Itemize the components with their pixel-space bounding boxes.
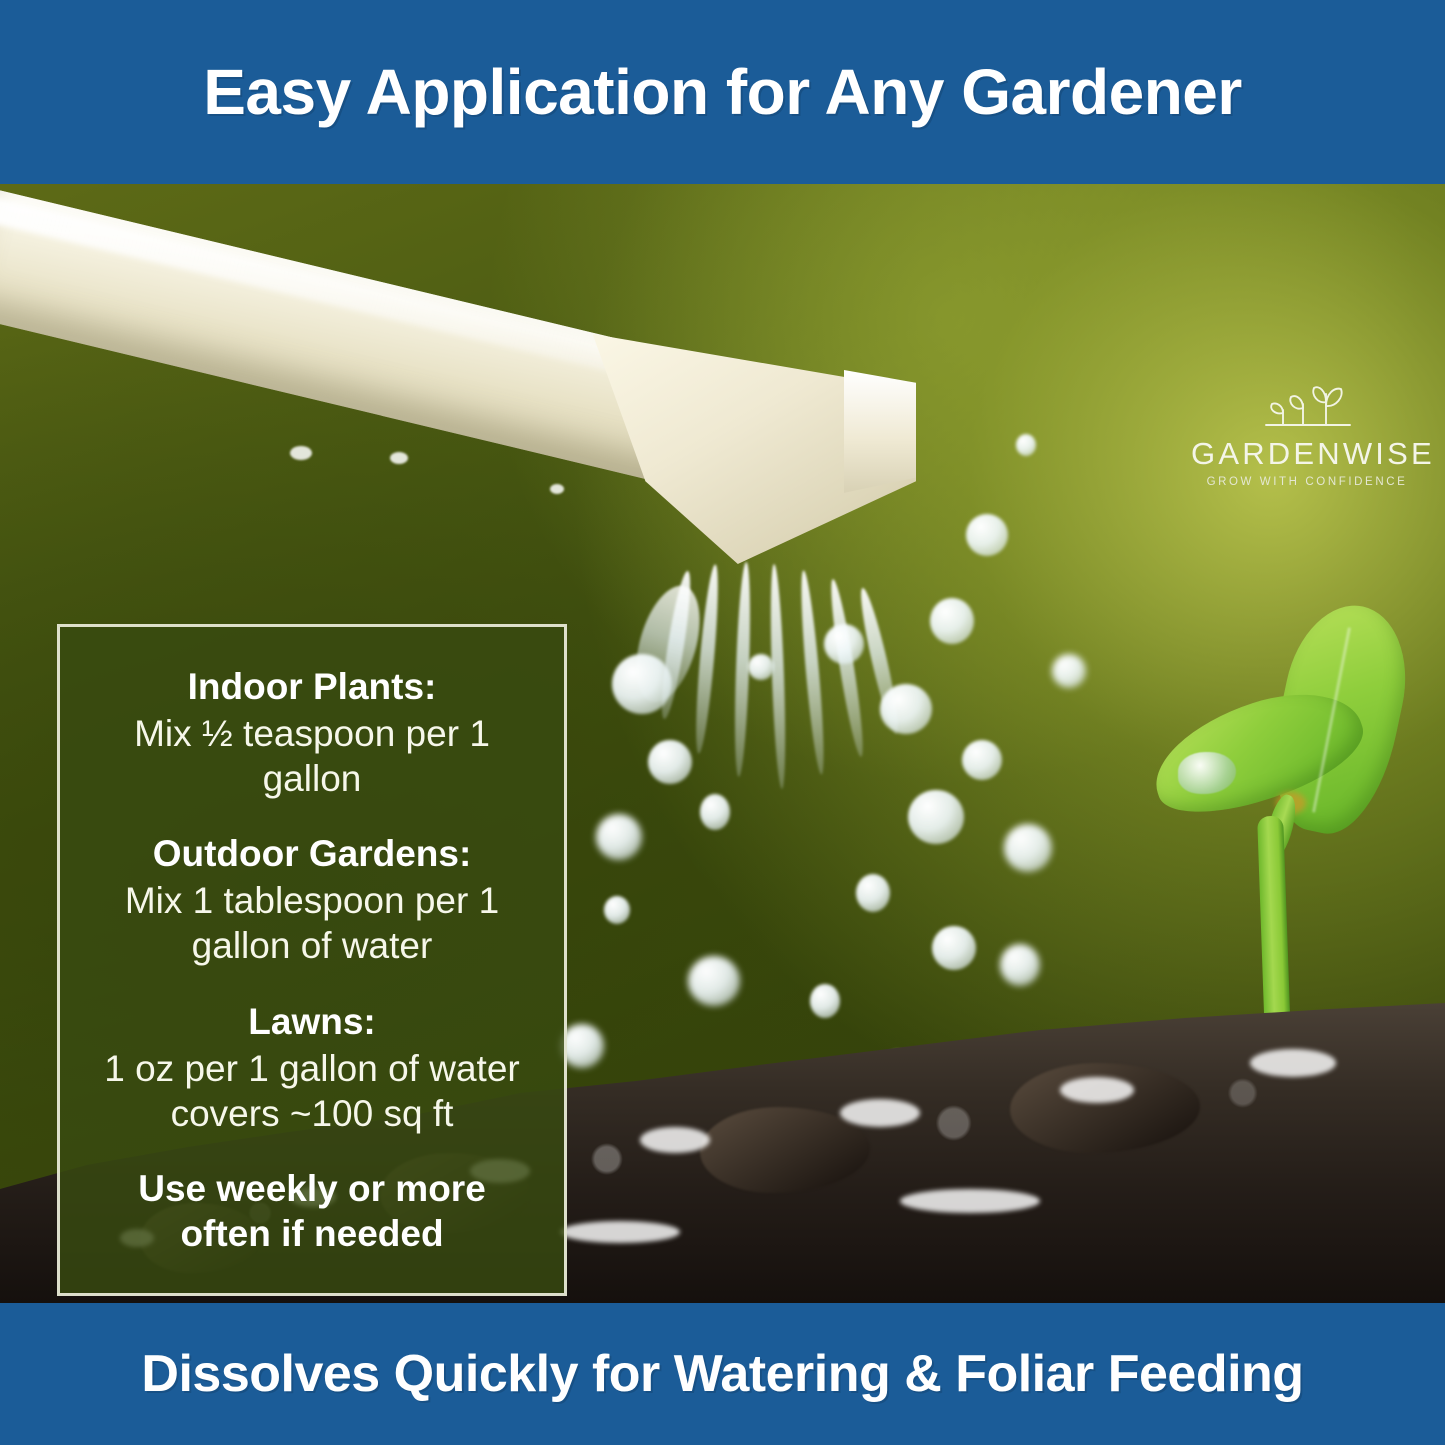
instruction-group-lawns: Lawns: 1 oz per 1 gallon of water covers…: [76, 999, 548, 1136]
water-droplet: [930, 598, 974, 644]
brand-name: GARDENWISE: [1191, 438, 1423, 469]
water-droplet: [932, 926, 976, 970]
instruction-heading: Lawns:: [76, 999, 548, 1044]
instruction-line: Mix 1 tablespoon per 1: [76, 878, 548, 923]
frequency-line: often if needed: [76, 1211, 548, 1256]
water-droplet: [908, 790, 964, 844]
water-droplet: [1000, 944, 1040, 986]
water-stream: [797, 570, 828, 775]
water-droplet: [1004, 824, 1052, 872]
water-droplet: [824, 624, 864, 664]
brand-tagline: GROW WITH CONFIDENCE: [1191, 477, 1423, 489]
application-instructions-panel: Indoor Plants: Mix ½ teaspoon per 1 gall…: [57, 624, 567, 1296]
water-droplet: [748, 654, 774, 680]
water-droplet: [966, 514, 1008, 556]
soil-water-sparkle: [840, 1099, 920, 1127]
instruction-line: covers ~100 sq ft: [76, 1091, 548, 1136]
bottom-banner: Dissolves Quickly for Watering & Foliar …: [0, 1303, 1445, 1445]
soil-water-sparkle: [900, 1189, 1040, 1213]
water-stream: [768, 564, 788, 789]
instruction-heading: Indoor Plants:: [76, 664, 548, 709]
product-photo: Indoor Plants: Mix ½ teaspoon per 1 gall…: [0, 184, 1445, 1303]
soil-water-sparkle: [1060, 1077, 1134, 1103]
top-banner: Easy Application for Any Gardener: [0, 0, 1445, 184]
instruction-line: 1 oz per 1 gallon of water: [76, 1046, 548, 1091]
water-droplet: [962, 740, 1002, 780]
frequency-line: Use weekly or more: [76, 1166, 548, 1211]
instruction-group-indoor: Indoor Plants: Mix ½ teaspoon per 1 gall…: [76, 664, 548, 801]
water-droplet: [612, 654, 672, 714]
water-droplet: [856, 874, 890, 912]
product-infographic: Easy Application for Any Gardener: [0, 0, 1445, 1445]
water-droplet: [604, 896, 630, 924]
bottom-banner-headline: Dissolves Quickly for Watering & Foliar …: [141, 1344, 1303, 1404]
sprout-leaves-icon: [1252, 380, 1362, 432]
water-stream: [692, 564, 723, 754]
water-droplet: [648, 740, 692, 784]
top-banner-headline: Easy Application for Any Gardener: [203, 55, 1242, 129]
water-droplet: [596, 814, 642, 860]
water-droplet: [1052, 654, 1086, 688]
soil-water-sparkle: [1250, 1049, 1336, 1077]
instruction-line: gallon of water: [76, 923, 548, 968]
water-droplet: [810, 984, 840, 1018]
water-droplet: [1016, 434, 1036, 456]
instruction-line: gallon: [76, 756, 548, 801]
instruction-line: Mix ½ teaspoon per 1: [76, 711, 548, 756]
instruction-frequency-note: Use weekly or more often if needed: [76, 1166, 548, 1256]
soil-water-sparkle: [640, 1127, 710, 1153]
brand-logo: GARDENWISE GROW WITH CONFIDENCE: [1191, 380, 1423, 489]
water-droplet: [688, 956, 740, 1006]
water-droplet: [700, 794, 730, 830]
instruction-group-outdoor: Outdoor Gardens: Mix 1 tablespoon per 1 …: [76, 831, 548, 968]
water-droplet: [880, 684, 932, 734]
soil-water-sparkle: [560, 1221, 680, 1243]
instruction-heading: Outdoor Gardens:: [76, 831, 548, 876]
